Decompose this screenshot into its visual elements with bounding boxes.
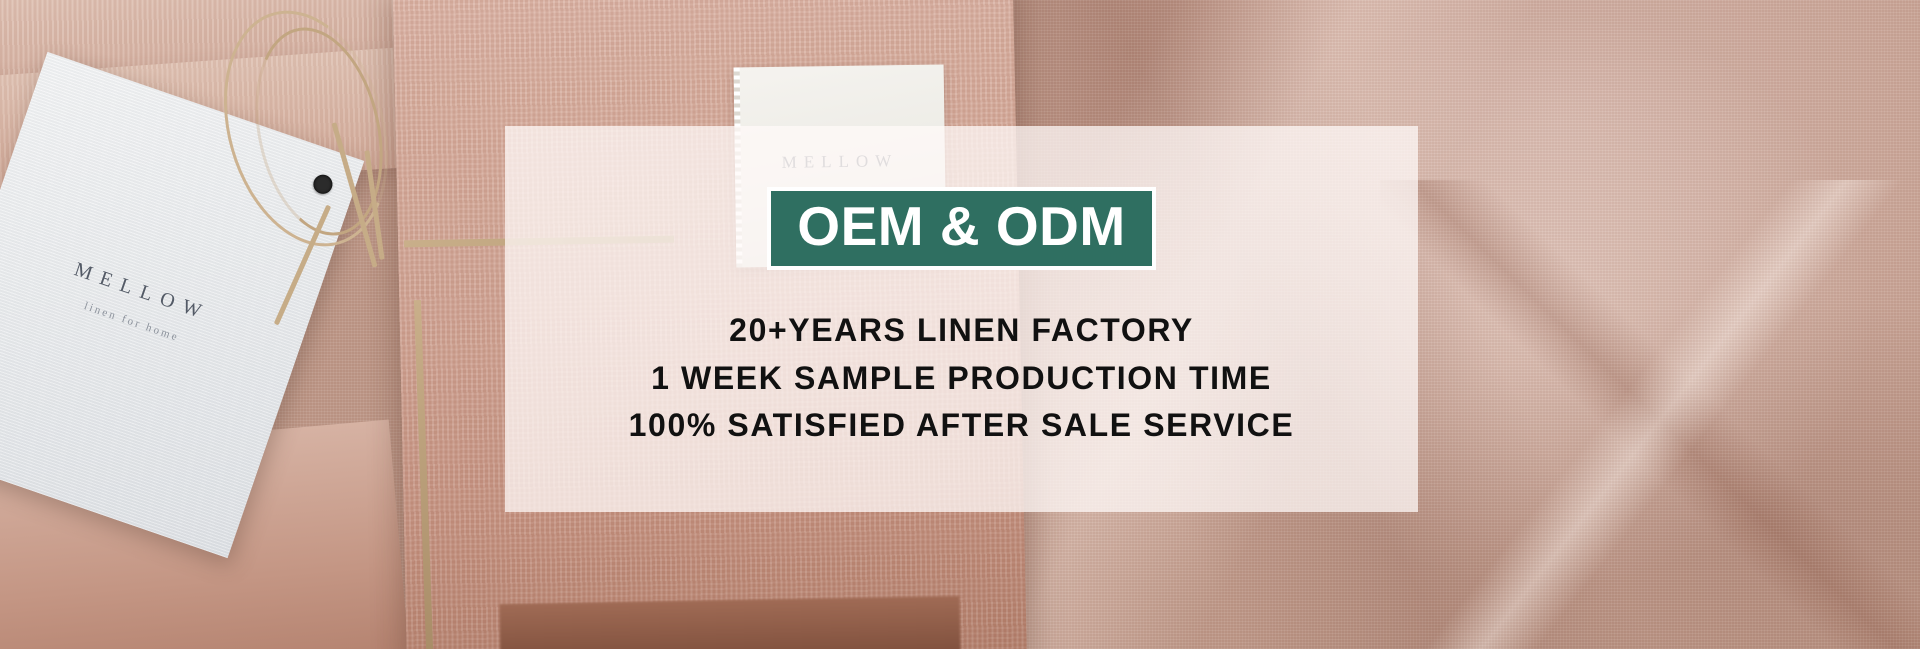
- headline-title: OEM & ODM: [797, 199, 1125, 254]
- oem-odm-promo-banner: MELLOW MELLOW linen for home OEM & ODM 2…: [0, 0, 1920, 649]
- banner-content: OEM & ODM 20+YEARS LINEN FACTORY 1 WEEK …: [505, 126, 1418, 512]
- selling-points-list: 20+YEARS LINEN FACTORY 1 WEEK SAMPLE PRO…: [629, 314, 1295, 443]
- selling-point-sample-time: 1 WEEK SAMPLE PRODUCTION TIME: [651, 362, 1272, 396]
- bundle-bottom-seam: [500, 596, 961, 649]
- selling-point-after-sale: 100% SATISFIED AFTER SALE SERVICE: [629, 409, 1295, 443]
- selling-point-years: 20+YEARS LINEN FACTORY: [729, 314, 1194, 348]
- headline-badge: OEM & ODM: [767, 187, 1155, 270]
